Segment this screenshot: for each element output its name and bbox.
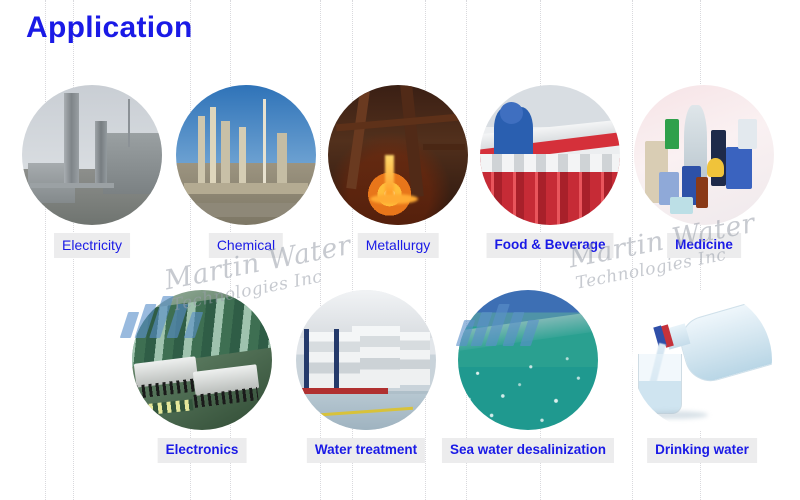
sea-water-photo	[458, 290, 598, 430]
foundry-furnace-photo	[328, 85, 468, 225]
application-tile-medicine[interactable]: Medicine	[634, 85, 774, 258]
application-tile-metallurgy[interactable]: Metallurgy	[328, 85, 468, 258]
bottling-line-photo	[480, 85, 620, 225]
pharmaceutical-bottles-photo	[634, 85, 774, 225]
tile-label: Drinking water	[647, 438, 757, 463]
tile-label: Electricity	[54, 233, 130, 258]
tile-label: Electronics	[158, 438, 247, 463]
page-title: Application	[26, 11, 193, 45]
application-tile-food-beverage[interactable]: Food & Beverage	[480, 85, 620, 258]
application-tile-sea-water-desalinization[interactable]: Sea water desalinization	[458, 290, 598, 463]
tile-label: Food & Beverage	[486, 233, 613, 258]
application-tile-chemical[interactable]: Chemical	[176, 85, 316, 258]
application-tile-drinking-water[interactable]: Drinking water	[632, 290, 772, 463]
tile-label: Metallurgy	[358, 233, 439, 258]
application-tile-water-treatment[interactable]: Water treatment	[296, 290, 436, 463]
tile-label: Sea water desalinization	[442, 438, 614, 463]
application-tile-electricity[interactable]: Electricity	[22, 85, 162, 258]
tile-label: Chemical	[209, 233, 283, 258]
ro-membrane-skid-photo	[296, 290, 436, 430]
chemical-refinery-photo	[176, 85, 316, 225]
application-page: Application Electricity Chemical	[0, 0, 800, 500]
bottle-pouring-glass-photo	[632, 290, 772, 430]
circuit-board-photo	[132, 290, 272, 430]
power-plant-photo	[22, 85, 162, 225]
tile-label: Water treatment	[307, 438, 425, 463]
tile-label: Medicine	[667, 233, 741, 258]
application-tile-electronics[interactable]: Electronics	[132, 290, 272, 463]
